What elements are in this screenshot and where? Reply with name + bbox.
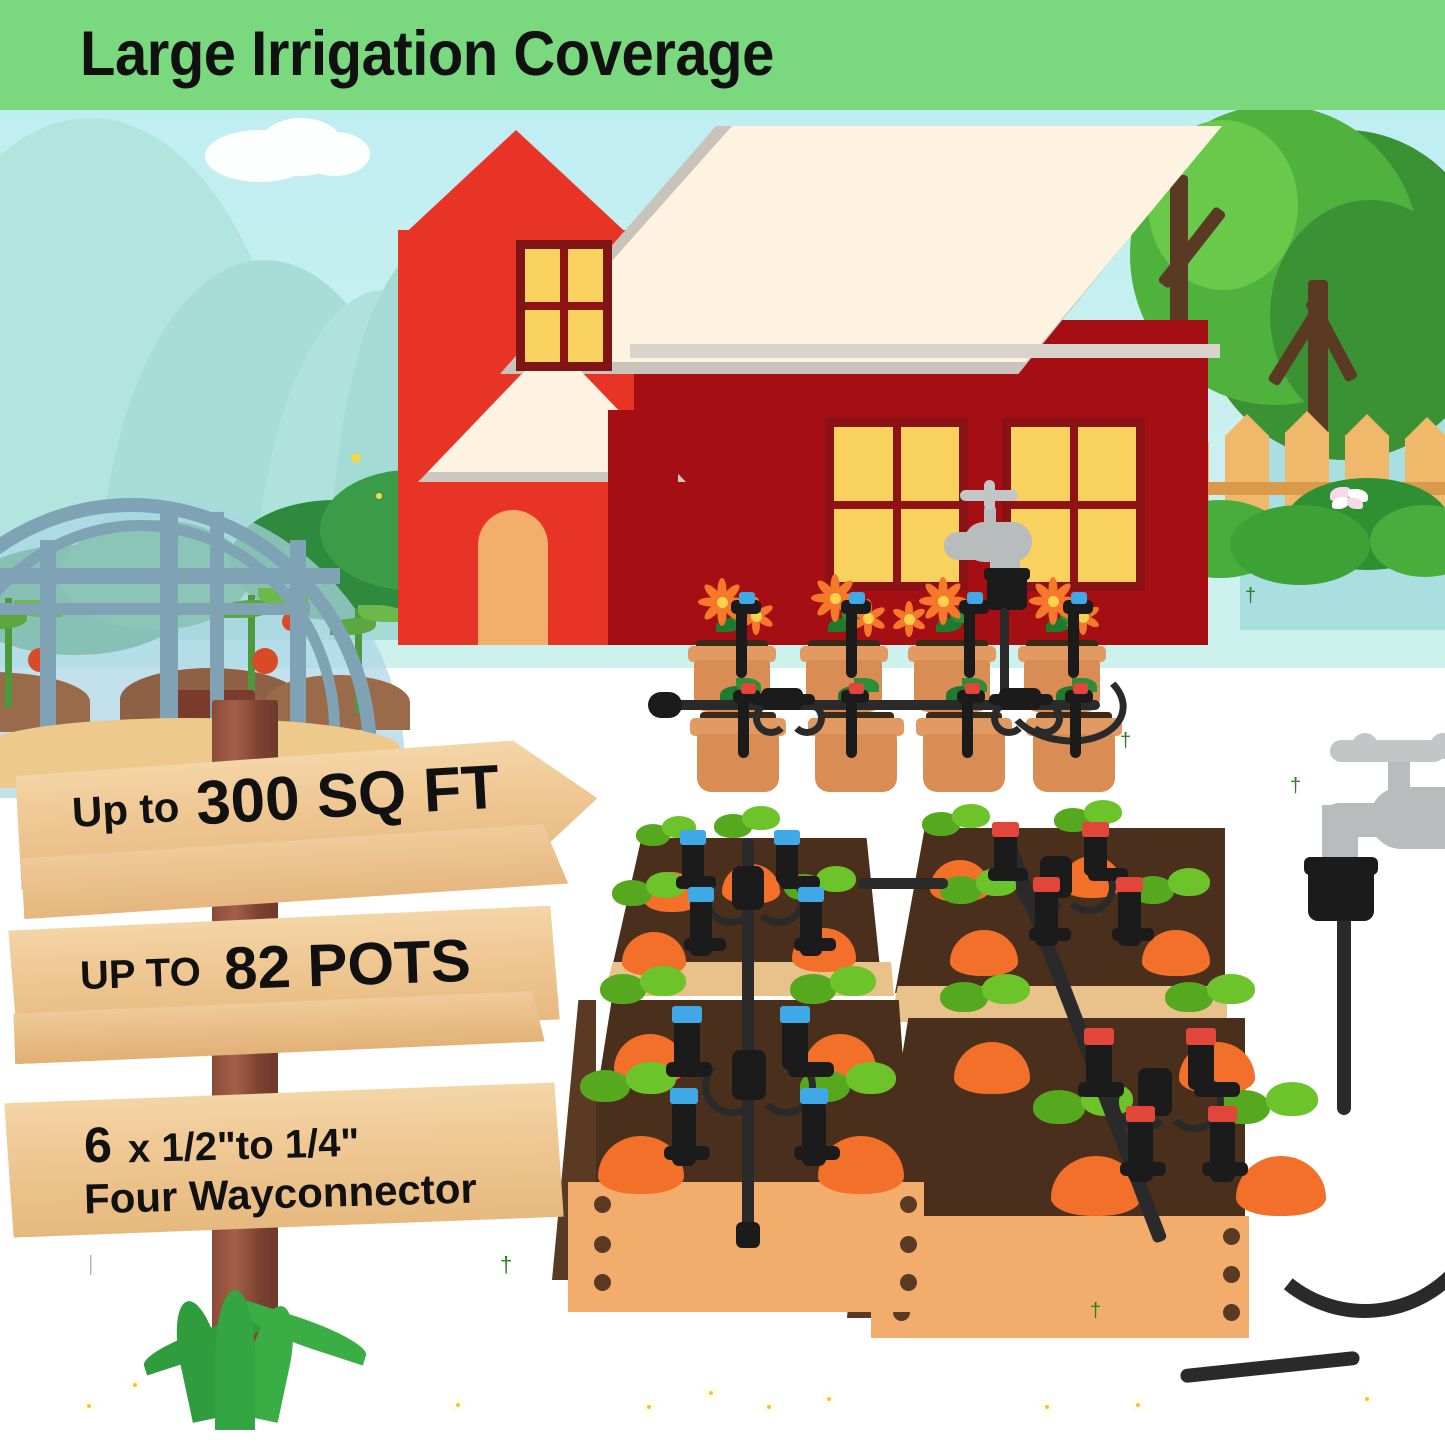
grass-tuft: †: [500, 1252, 530, 1278]
grass-tuft: [80, 1255, 106, 1275]
bush-flower: [345, 447, 367, 469]
house-window-right: [1002, 418, 1145, 591]
porch-wall: [608, 410, 678, 645]
lawn-daisy: [1358, 1390, 1376, 1408]
house-window-left: [825, 418, 968, 591]
greenhouse-mullion-h: [0, 603, 310, 615]
attic-window: [516, 240, 612, 371]
grass-tuft: †: [1290, 775, 1320, 798]
lawn-daisy: [1038, 1398, 1056, 1416]
lawn-daisy: [640, 1398, 658, 1416]
grass-tuft: †: [1120, 730, 1150, 753]
grass-tuft: †: [1090, 1300, 1120, 1323]
lawn-daisy: [1128, 1395, 1148, 1415]
roof-edge: [630, 344, 1220, 358]
lawn-daisy: [760, 1398, 778, 1416]
orange-flower: [892, 602, 926, 636]
sign-connector-count: 6: [83, 1116, 112, 1175]
lawn-daisy: [78, 1395, 100, 1417]
cloud-icon: [300, 132, 370, 176]
sign-connector-spec: x 1/2"to 1/4": [127, 1121, 360, 1172]
page-title: Large Irrigation Coverage: [80, 18, 774, 90]
bush-flower: [372, 489, 386, 503]
hose-connector-collar: [984, 568, 1030, 580]
end-cap-connector: [648, 692, 682, 718]
greenhouse-mullion-h: [0, 568, 340, 584]
lawn-daisy: [700, 1382, 722, 1404]
sign-pots-prefix: UP TO: [79, 950, 201, 999]
foreground-bush: [1230, 505, 1370, 585]
sign-pots-value: 82 POTS: [223, 926, 472, 1004]
grass-tuft: †: [1245, 585, 1275, 608]
lawn-daisy: [125, 1375, 145, 1395]
product-feature-image: † † † † †: [0, 0, 1445, 1445]
bed-link-line: [858, 878, 948, 889]
line-end-cap: [736, 1222, 760, 1248]
butterfly-icon: [1330, 487, 1370, 513]
supply-hose-tail: [1180, 1351, 1360, 1384]
lawn-daisy: [448, 1395, 468, 1415]
header-banner: Large Irrigation Coverage: [0, 0, 1445, 110]
lawn-daisy: [820, 1390, 838, 1408]
sign-area-prefix: Up to: [71, 783, 181, 837]
house-gable: [398, 130, 634, 240]
greenhouse-mullion-v: [160, 512, 178, 742]
house-door: [478, 510, 548, 645]
hose-connector-collar: [1304, 857, 1378, 875]
